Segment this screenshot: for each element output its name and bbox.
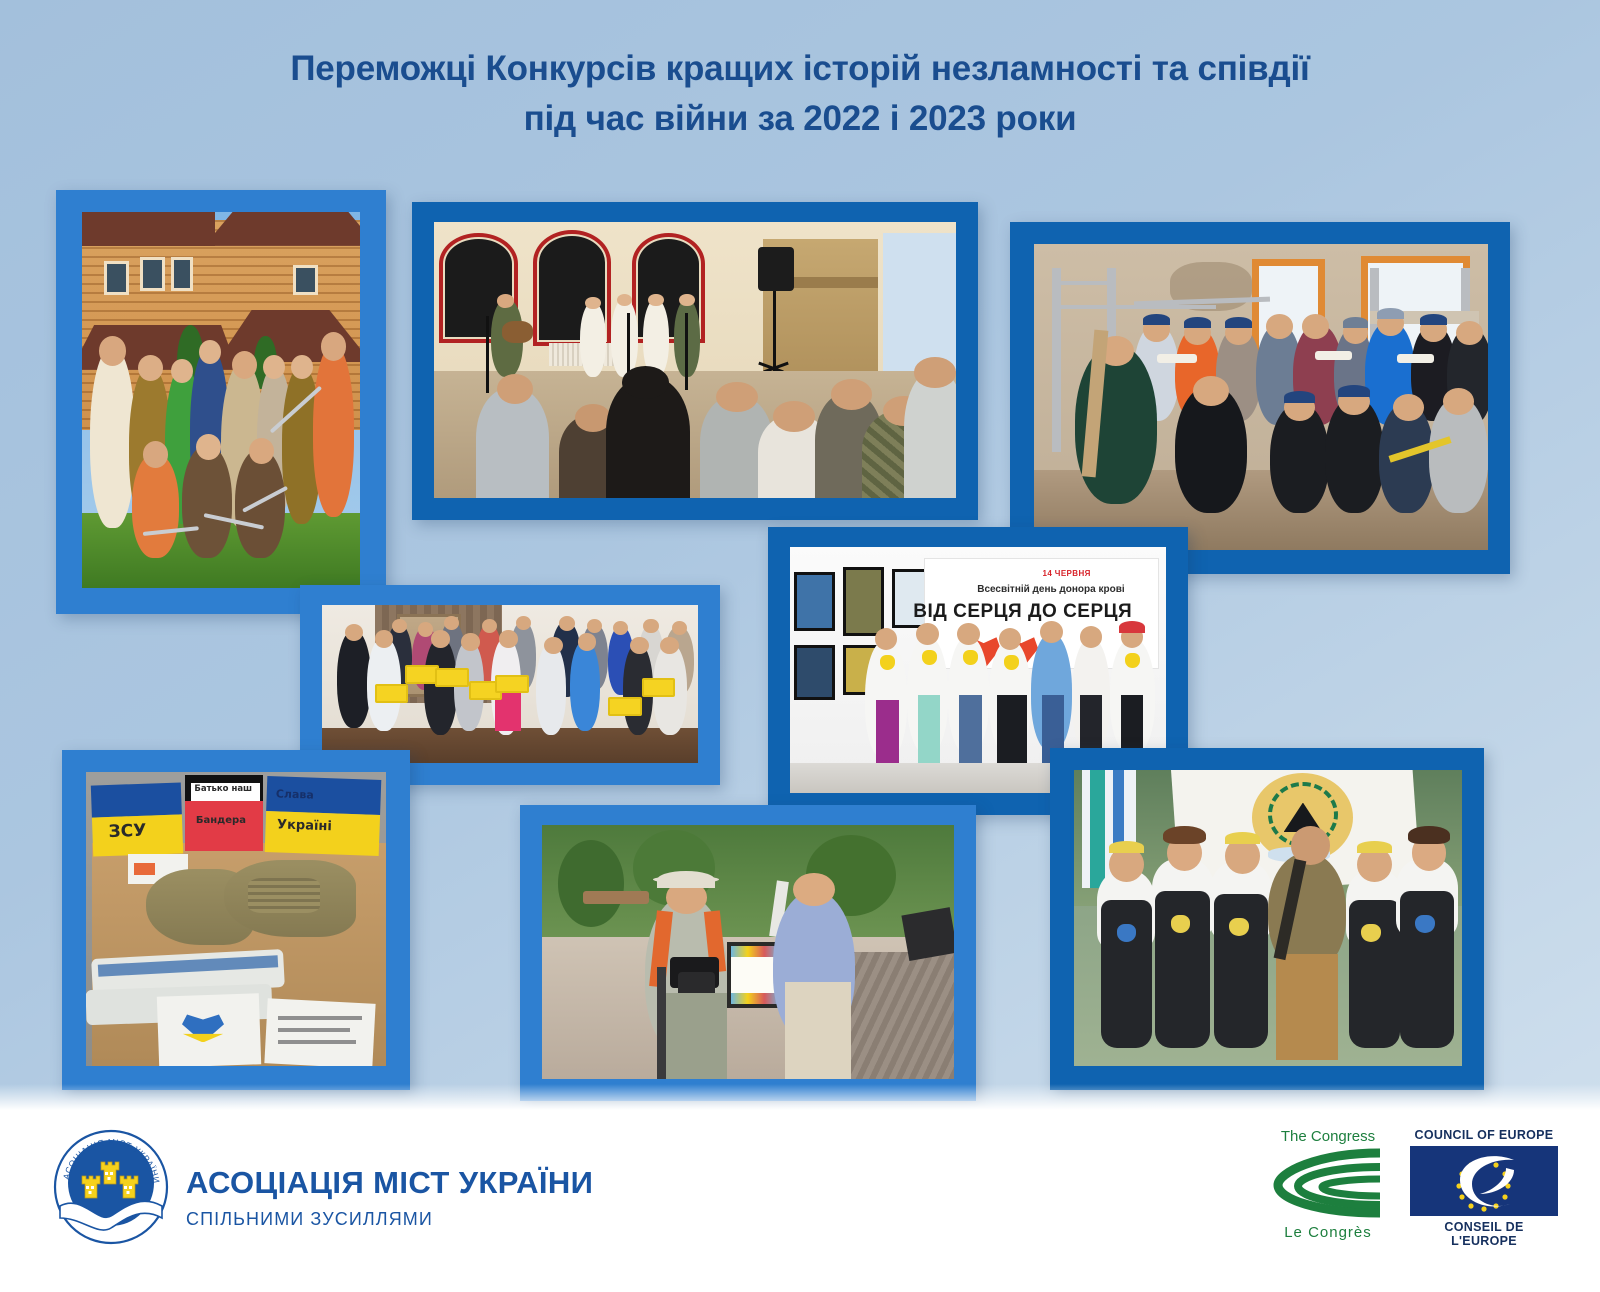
- drawing-text-slava: Слава: [276, 787, 314, 801]
- amu-name: АСОЦІАЦІЯ МІСТ УКРАЇНИ: [186, 1165, 593, 1201]
- amu-wordmark: АСОЦІАЦІЯ МІСТ УКРАЇНИ СПІЛЬНИМИ ЗУСИЛЛЯ…: [186, 1165, 593, 1230]
- drawing-text-batko: Батько наш: [194, 784, 252, 794]
- drawing-text-zsu: ЗСУ: [108, 820, 146, 841]
- banner-date: 14 ЧЕРВНЯ: [1042, 569, 1090, 578]
- photo-apron-volunteers: [1074, 770, 1462, 1066]
- coe-bottom-label: CONSEIL DE L'EUROPE: [1410, 1220, 1558, 1248]
- amu-slogan: СПІЛЬНИМИ ЗУСИЛЛЯМИ: [186, 1209, 593, 1230]
- title-line-1: Переможці Конкурсів кращих історій незла…: [70, 44, 1530, 94]
- photo-frame-folk-costume-group: [56, 190, 386, 614]
- coe-flag-icon: [1410, 1146, 1558, 1216]
- photo-frame-photographer-award: [520, 805, 976, 1101]
- poster-canvas: Переможці Конкурсів кращих історій незла…: [0, 0, 1600, 1292]
- photo-photographer-award: [542, 825, 954, 1079]
- amu-logo-icon: АСОЦІАЦІЯ МІСТ УКРАЇНИ: [52, 1128, 170, 1246]
- photo-concert-hall: [434, 222, 956, 498]
- council-of-europe-logo: COUNCIL OF EUROPE CONSEIL DE L'EUROP: [1410, 1128, 1558, 1240]
- title-line-2: під час війни за 2022 і 2023 роки: [70, 94, 1530, 144]
- photo-frame-concert-hall: [412, 202, 978, 520]
- congress-bottom-label: Le Congrès: [1268, 1224, 1388, 1241]
- photo-frame-aid-box-drawings: ЗСУ Батько наш Бандера Слава Україні: [62, 750, 410, 1090]
- congress-top-label: The Congress: [1268, 1128, 1388, 1145]
- congress-arcs-icon: [1268, 1145, 1388, 1219]
- page-title: Переможці Конкурсів кращих історій незла…: [70, 44, 1530, 143]
- photo-frame-apron-volunteers: [1050, 748, 1484, 1090]
- banner-line-2: ВІД СЕРЦЯ ДО СЕРЦЯ: [913, 601, 1132, 623]
- photo-folk-costume-group: [82, 212, 360, 588]
- coe-top-label: COUNCIL OF EUROPE: [1410, 1128, 1558, 1142]
- banner-line-1: Всесвітній день донора крові: [977, 584, 1124, 595]
- drawing-text-bandera: Бандера: [196, 815, 246, 826]
- photo-youth-certificates: [322, 605, 698, 763]
- photo-volunteers-rebuilding: [1034, 244, 1488, 550]
- photo-frame-volunteers-rebuilding: [1010, 222, 1510, 574]
- congress-logo: The Congress Le Congrès: [1268, 1128, 1388, 1240]
- photo-aid-box-drawings: ЗСУ Батько наш Бандера Слава Україні: [86, 772, 386, 1066]
- drawing-text-ukraini: Україні: [277, 818, 332, 835]
